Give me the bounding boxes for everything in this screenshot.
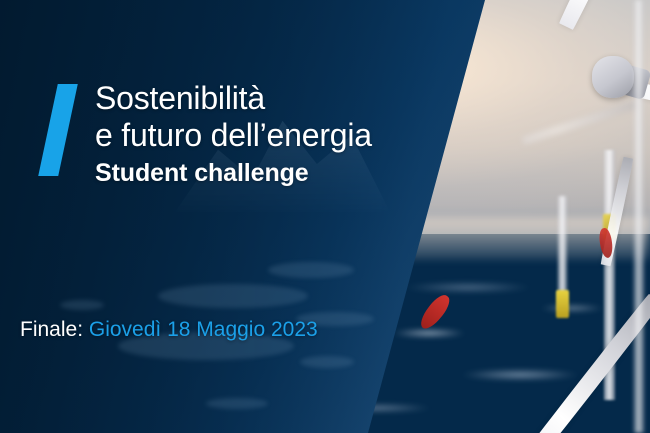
title-line-1: Sostenibilità [95, 80, 372, 117]
title-line-2: e futuro dell’energia [95, 117, 372, 154]
final-label: Finale: [20, 318, 83, 341]
event-banner: Sostenibilità e futuro dell’energia Stud… [0, 0, 650, 433]
title-subtitle: Student challenge [95, 156, 372, 190]
accent-slash-icon [38, 84, 78, 176]
page-title: Sostenibilità e futuro dell’energia Stud… [95, 80, 372, 190]
final-date-value: Giovedì 18 Maggio 2023 [89, 318, 318, 341]
final-date-line: Finale: Giovedì 18 Maggio 2023 [20, 318, 318, 342]
banner-content: Sostenibilità e futuro dell’energia Stud… [0, 0, 650, 433]
